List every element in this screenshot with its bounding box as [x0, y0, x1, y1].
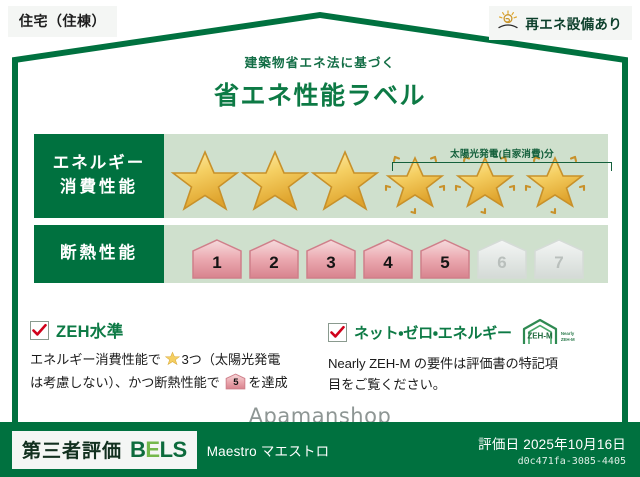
title-main: 省エネ性能ラベル: [0, 76, 640, 112]
zeh-body-text-3: は考慮しない）、かつ断熱性能で: [30, 375, 220, 390]
insulation-level-value: 4: [361, 254, 415, 271]
title-subtitle: 建築物省エネ法に基づく: [0, 52, 640, 71]
property-name: Maestro マエストロ: [207, 440, 330, 460]
insulation-level-badge: 3: [304, 238, 358, 280]
check-icon: [328, 323, 347, 342]
star-icon: [310, 146, 380, 216]
energy-performance-label: エネルギー 消費性能: [34, 134, 164, 218]
performance-rows: エネルギー 消費性能 太陽光発電(自家消費)分: [34, 134, 608, 290]
energy-label-line1: エネルギー: [53, 152, 146, 176]
insulation-level-value: 3: [304, 254, 358, 271]
bels-wordmark: BELS: [130, 437, 187, 463]
document-id: d0c471fa-3085-4405: [478, 456, 626, 467]
dwelling-type-tag: 住宅（住棟）: [8, 6, 117, 37]
zeh-body-text-2: 3つ（太陽光発電: [181, 352, 280, 367]
insulation-performance-label: 断熱性能: [34, 225, 164, 283]
star-icon-pv: [380, 146, 450, 216]
insulation-level-value: 7: [532, 254, 586, 271]
footer-meta: 評価日 2025年10月16日 d0c471fa-3085-4405: [478, 433, 626, 467]
zeh-m-logo-caption: Nearly ZEH-M: [561, 331, 575, 346]
criterion-net-zero-energy: ネット・ゼロ・エネルギー ZEH-M Nearly ZEH-M Nearly Z…: [328, 318, 610, 396]
nze-body-text-2: 目をご覧ください。: [328, 377, 446, 392]
insulation-level-badge: 2: [247, 238, 301, 280]
criterion-zeh-standard: ZEH水準 エネルギー消費性能で 3つ（太陽光発電 は考慮しない）、かつ断熱性能…: [30, 318, 312, 396]
insulation-rating-area: 1 2 3 4: [164, 225, 608, 283]
insulation-level-value: 5: [418, 254, 472, 271]
inline-level-value: 5: [225, 378, 246, 388]
zeh-body-text-4: を達成: [248, 375, 287, 390]
energy-label-root: 住宅（住棟） 再エネ設備あり 建築物省エネ法に基づく 省エネ性能ラベル: [0, 0, 640, 477]
svg-text:ZEH-M: ZEH-M: [527, 332, 553, 341]
insulation-level-value: 6: [475, 254, 529, 271]
energy-label-line2: 消費性能: [60, 176, 138, 200]
insulation-level-badge: 5: [418, 238, 472, 280]
energy-performance-row: エネルギー 消費性能 太陽光発電(自家消費)分: [34, 134, 608, 218]
insulation-level-badge: 4: [361, 238, 415, 280]
star-rating: [164, 144, 608, 216]
insulation-level-badge: 6: [475, 238, 529, 280]
insulation-level-badge-inline: 5: [225, 373, 246, 390]
zeh-m-logo-icon: ZEH-M Nearly ZEH-M: [521, 318, 575, 346]
criterion-zeh-body: エネルギー消費性能で 3つ（太陽光発電 は考慮しない）、かつ断熱性能で 5 を達…: [30, 349, 312, 394]
criterion-zeh-header: ZEH水準: [30, 318, 312, 342]
star-icon: [170, 146, 240, 216]
star-icon-pv: [450, 146, 520, 216]
insulation-level-badge: 7: [532, 238, 586, 280]
insulation-label-text: 断熱性能: [60, 242, 138, 266]
renewable-equipment-badge: 再エネ設備あり: [489, 6, 632, 40]
insulation-level-scale: 1 2 3 4: [164, 232, 608, 280]
check-icon: [30, 321, 49, 340]
renewable-badge-label: 再エネ設備あり: [525, 13, 622, 33]
criterion-zeh-title: ZEH水準: [56, 318, 124, 342]
label-title-block: 建築物省エネ法に基づく 省エネ性能ラベル: [0, 52, 640, 112]
footer-bar: 第三者評価 BELS Maestro マエストロ 評価日 2025年10月16日…: [0, 422, 640, 477]
criterion-nze-title: ネット・ゼロ・エネルギー: [354, 322, 512, 343]
criterion-nze-body: Nearly ZEH-M の要件は評価書の特記項 目をご覧ください。: [328, 353, 610, 396]
star-icon-pv: [520, 146, 590, 216]
zeh-body-text-1: エネルギー消費性能で: [30, 352, 161, 367]
nze-body-text-1: Nearly ZEH-M の要件は評価書の特記項: [328, 356, 558, 371]
insulation-level-value: 2: [247, 254, 301, 271]
insulation-level-value: 1: [190, 254, 244, 271]
criteria-section: ZEH水準 エネルギー消費性能で 3つ（太陽光発電 は考慮しない）、かつ断熱性能…: [30, 318, 610, 396]
insulation-level-badge: 1: [190, 238, 244, 280]
bels-jp-label: 第三者評価: [22, 436, 122, 463]
solar-panel-icon: [497, 10, 519, 35]
bels-certification-badge: 第三者評価 BELS: [12, 431, 197, 469]
evaluation-date: 評価日 2025年10月16日: [478, 433, 626, 453]
star-icon: [240, 146, 310, 216]
criterion-nze-header: ネット・ゼロ・エネルギー ZEH-M Nearly ZEH-M: [328, 318, 610, 346]
star-icon-inline: [165, 351, 180, 372]
energy-rating-area: 太陽光発電(自家消費)分: [164, 134, 608, 218]
insulation-performance-row: 断熱性能 1: [34, 225, 608, 283]
